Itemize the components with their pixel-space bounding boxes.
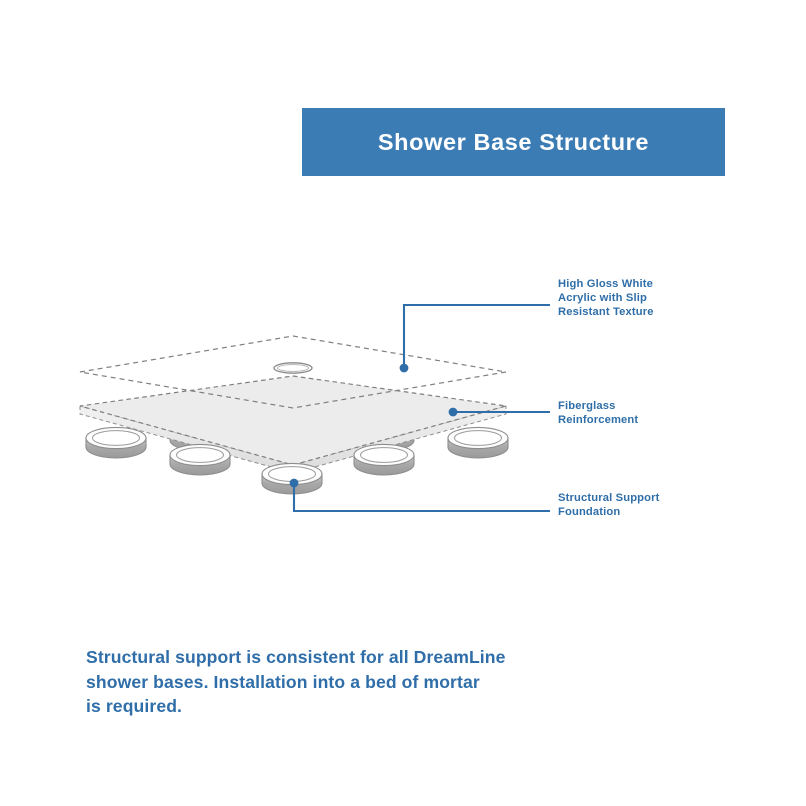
leader-line-support <box>290 479 550 511</box>
callout-label-acrylic: High Gloss White Acrylic with Slip Resis… <box>558 277 654 320</box>
callout-label-support: Structural Support Foundation <box>558 491 660 519</box>
support-ring <box>170 444 230 475</box>
drain-opening-inner-icon <box>278 365 309 372</box>
leader-line-acrylic-path <box>404 305 550 368</box>
leader-dot-support <box>290 479 299 488</box>
support-ring <box>354 444 414 475</box>
fiberglass-layer <box>80 376 506 473</box>
leader-line-support-path <box>294 483 550 511</box>
callout-label-fiberglass: Fiberglass Reinforcement <box>558 399 638 427</box>
leader-dot-acrylic <box>400 364 409 373</box>
leader-line-acrylic <box>400 305 550 372</box>
diagram-page: Shower Base Structure <box>0 0 806 806</box>
support-ring <box>448 427 508 458</box>
support-ring <box>262 463 322 494</box>
footer-caption: Structural support is consistent for all… <box>86 645 546 719</box>
support-ring <box>86 427 146 458</box>
leader-dot-fiberglass <box>449 408 458 417</box>
